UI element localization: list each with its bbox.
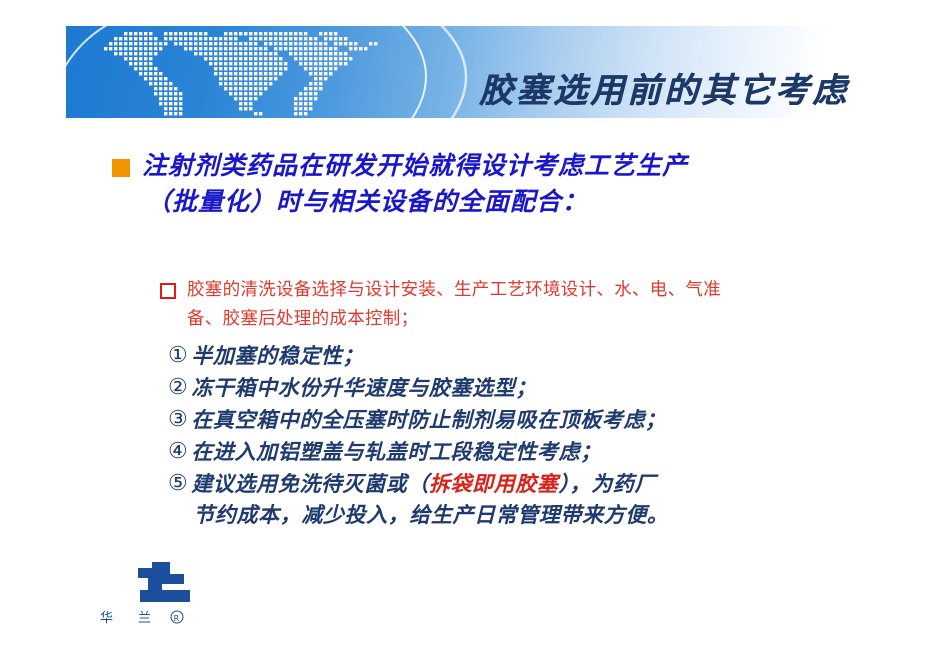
main-bullet: 注射剂类药品在研发开始就得设计考虑工艺生产 （批量化）时与相关设备的全面配合： [112, 148, 902, 220]
main-bullet-line-1: 注射剂类药品在研发开始就得设计考虑工艺生产 [142, 148, 688, 184]
list-item: ① 半加塞的稳定性； [168, 340, 908, 371]
sub-bullet-line-2: 备、胶塞后处理的成本控制； [187, 305, 721, 334]
sub-bullet-line-1: 胶塞的清洗设备选择与设计安装、生产工艺环境设计、水、电、气准 [187, 276, 721, 305]
circled-number-icon: ① [168, 340, 188, 371]
logo-company-char-1: 华 [100, 611, 113, 626]
list-item: ④ 在进入加铝塑盖与轧盖时工段稳定性考虑； [168, 436, 908, 467]
list-item-line-1: 半加塞的稳定性； [191, 340, 364, 371]
slide-canvas: 胶塞选用前的其它考虑 注射剂类药品在研发开始就得设计考虑工艺生产 （批量化）时与… [0, 0, 937, 662]
main-bullet-text: 注射剂类药品在研发开始就得设计考虑工艺生产 （批量化）时与相关设备的全面配合： [142, 148, 688, 220]
header-banner: 胶塞选用前的其它考虑 [66, 26, 871, 118]
dotted-world-map-icon [66, 28, 396, 116]
list-item-line-1: 在真空箱中的全压塞时防止制剂易吸在顶板考虑； [191, 404, 666, 435]
circled-number-icon: ⑤ [168, 468, 188, 499]
list-item-line-1: 在进入加铝塑盖与轧盖时工段稳定性考虑； [191, 436, 601, 467]
list-item: ③ 在真空箱中的全压塞时防止制剂易吸在顶板考虑； [168, 404, 908, 435]
list-item-text: 半加塞的稳定性； [191, 340, 364, 371]
list-item-5-post: ），为药厂 [559, 471, 657, 496]
list-item-line-1: 冻干箱中水份升华速度与胶塞选型； [191, 372, 537, 403]
logo-company-char-2: 兰 [138, 611, 151, 626]
list-item: ⑤ 建议选用免洗待灭菌或（拆袋即用胶塞），为药厂 节约成本，减少投入，给生产日常… [168, 468, 908, 530]
list-item-5-pre: 建议选用免洗待灭菌或（ [191, 471, 429, 496]
circled-number-icon: ② [168, 372, 188, 403]
main-bullet-line-2: （批量化）时与相关设备的全面配合： [146, 184, 688, 220]
registered-mark-icon: R [174, 614, 180, 623]
list-item-text: 在真空箱中的全压塞时防止制剂易吸在顶板考虑； [191, 404, 666, 435]
list-item-line-2: 节约成本，减少投入，给生产日常管理带来方便。 [193, 499, 668, 530]
sub-bullet-text: 胶塞的清洗设备选择与设计安装、生产工艺环境设计、水、电、气准 备、胶塞后处理的成… [187, 276, 721, 334]
sub-bullet: 胶塞的清洗设备选择与设计安装、生产工艺环境设计、水、电、气准 备、胶塞后处理的成… [160, 276, 860, 334]
list-item-text: 在进入加铝塑盖与轧盖时工段稳定性考虑； [191, 436, 601, 467]
numbered-list: ① 半加塞的稳定性； ② 冻干箱中水份升华速度与胶塞选型； ③ 在真空箱中的全压… [168, 340, 908, 531]
hualan-logo: 华 兰 R [78, 556, 228, 632]
orange-square-bullet-icon [112, 159, 130, 177]
list-item: ② 冻干箱中水份升华速度与胶塞选型； [168, 372, 908, 403]
circled-number-icon: ④ [168, 436, 188, 467]
red-hollow-square-bullet-icon [160, 283, 176, 299]
page-title: 胶塞选用前的其它考虑 [479, 63, 849, 112]
list-item-text: 建议选用免洗待灭菌或（拆袋即用胶塞），为药厂 节约成本，减少投入，给生产日常管理… [191, 468, 668, 530]
circled-number-icon: ③ [168, 404, 188, 435]
list-item-text: 冻干箱中水份升华速度与胶塞选型； [191, 372, 537, 403]
highlighted-term: 拆袋即用胶塞 [429, 471, 559, 496]
